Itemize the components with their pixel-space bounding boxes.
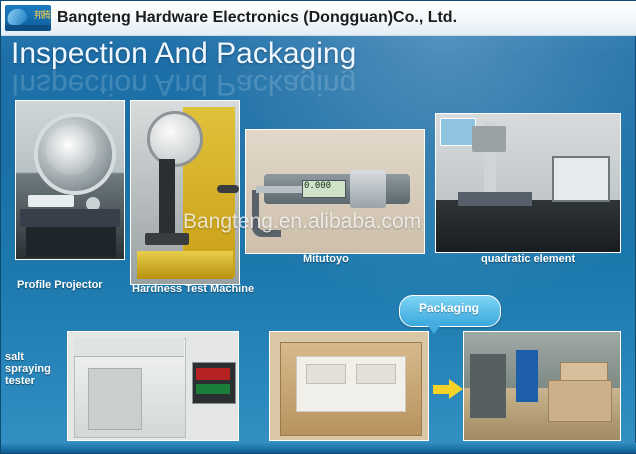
header-bar: 邦腾 Bangteng Hardware Electronics (Donggu…: [1, 1, 636, 36]
slide-canvas: 邦腾 Bangteng Hardware Electronics (Donggu…: [0, 0, 636, 454]
callout-label: Packaging: [399, 301, 499, 315]
caption-profile-projector: Profile Projector: [17, 279, 137, 291]
packaging-callout: Packaging: [399, 295, 499, 331]
projector-stand-shape: [26, 227, 116, 257]
hardness-anvil-shape: [145, 233, 189, 245]
company-name: Bangteng Hardware Electronics (Dongguan)…: [57, 9, 457, 27]
arrow-head-shape: [449, 379, 463, 399]
projector-base-shape: [20, 209, 120, 227]
measuring-head-shape: [472, 126, 506, 152]
salt-chamber-door-shape: [88, 368, 142, 430]
lab-bench-shape: [436, 200, 621, 253]
photo-carton-packing: [269, 331, 429, 441]
projector-readout-shape: [28, 195, 74, 207]
photo-strapping-workshop: [463, 331, 621, 441]
micrometer-spindle-shape: [256, 186, 304, 193]
photo-quadratic-element: [435, 113, 621, 253]
page-title: Inspection And Packaging: [11, 37, 481, 71]
strapping-machine-shape: [470, 354, 506, 418]
bangteng-logo-icon: 邦腾: [5, 5, 51, 31]
micrometer-thimble-shape: [350, 170, 386, 208]
micrometer-lcd-value: 0.000: [304, 181, 331, 191]
page-title-reflection: Inspection And Packaging: [11, 67, 356, 101]
caption-salt-spraying-tester: salt spraying tester: [5, 351, 65, 387]
workshop-carton-shape: [548, 380, 612, 422]
wall-poster-shape: [440, 118, 476, 146]
measuring-stage-shape: [458, 192, 532, 206]
photo-mitutoyo-micrometer: 0.000: [245, 129, 425, 254]
photo-profile-projector: [15, 100, 125, 260]
lab-monitor-shape: [552, 156, 610, 202]
caption-quadratic-element: quadratic element: [481, 253, 621, 265]
panel-readout-red: [196, 368, 230, 380]
carton-slot-right: [356, 364, 396, 384]
logo-chinese-text: 邦腾: [34, 8, 50, 21]
photo-salt-spraying-tester: [67, 331, 239, 441]
photo-hardness-test-machine: [130, 100, 240, 285]
blue-strap-shape: [516, 350, 538, 402]
hardness-dial-shape: [147, 111, 203, 167]
projector-lens-shape: [46, 125, 96, 175]
salt-chamber-lid-shape: [74, 338, 184, 357]
hardness-base-shape: [137, 251, 233, 279]
caption-mitutoyo: Mitutoyo: [303, 253, 423, 265]
carton-slot-left: [306, 364, 346, 384]
hardness-lever-shape: [217, 185, 239, 193]
bottom-accent-bar: [1, 443, 636, 453]
logo-bottom-bar: [5, 25, 51, 31]
caption-hardness-test-machine: Hardness Test Machine: [132, 283, 272, 295]
panel-readout-green: [196, 384, 230, 394]
page-title-block: Inspection And Packaging Inspection And …: [11, 37, 481, 97]
flow-arrow-icon: [433, 379, 463, 399]
